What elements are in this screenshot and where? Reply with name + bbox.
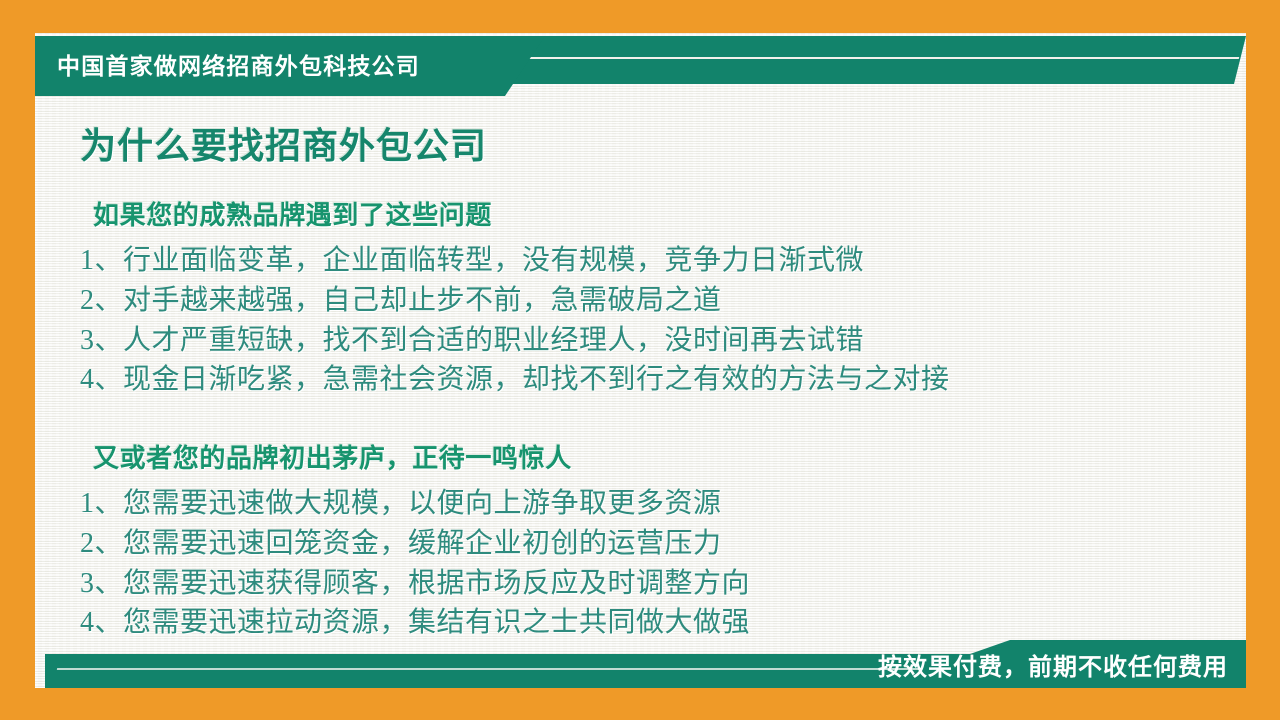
section-heading-1: 如果您的成熟品牌遇到了这些问题: [93, 195, 1246, 232]
header-badge: 中国首家做网络招商外包科技公司: [35, 36, 545, 96]
page-title: 为什么要找招商外包公司: [80, 117, 1246, 169]
footer-hairline-divider: [57, 668, 922, 670]
header-badge-label: 中国首家做网络招商外包科技公司: [57, 47, 420, 81]
list-item: 4、现金日渐吃紧，急需社会资源，却找不到行之有效的方法与之对接: [80, 360, 1246, 400]
content-area: 为什么要找招商外包公司 如果您的成熟品牌遇到了这些问题 1、行业面临变革，企业面…: [35, 95, 1246, 625]
section-list-2: 1、您需要迅速做大规模，以便向上游争取更多资源 2、您需要迅速回笼资金，缓解企业…: [80, 484, 1246, 643]
list-item: 3、您需要迅速获得顾客，根据市场反应及时调整方向: [80, 564, 1246, 604]
header-ribbon: 中国首家做网络招商外包科技公司: [35, 36, 1246, 84]
list-item: 3、人才严重短缺，找不到合适的职业经理人，没时间再去试错: [80, 321, 1246, 361]
section-list-1: 1、行业面临变革，企业面临转型，没有规模，竞争力日渐式微 2、对手越来越强，自己…: [80, 241, 1246, 400]
list-item: 1、您需要迅速做大规模，以便向上游争取更多资源: [80, 484, 1246, 524]
list-item: 2、对手越来越强，自己却止步不前，急需破局之道: [80, 281, 1246, 321]
header-hairline-divider: [455, 57, 1239, 59]
footer-tagline: 按效果付费，前期不收任何费用: [878, 647, 1228, 682]
slide-root: 中国首家做网络招商外包科技公司 为什么要找招商外包公司 如果您的成熟品牌遇到了这…: [0, 0, 1280, 720]
footer-ribbon: 按效果付费，前期不收任何费用: [35, 640, 1246, 688]
list-item: 1、行业面临变革，企业面临转型，没有规模，竞争力日渐式微: [80, 241, 1246, 281]
section-heading-2: 又或者您的品牌初出茅庐，正待一鸣惊人: [93, 438, 1246, 475]
list-item: 4、您需要迅速拉动资源，集结有识之士共同做大做强: [80, 603, 1246, 643]
list-item: 2、您需要迅速回笼资金，缓解企业初创的运营压力: [80, 524, 1246, 564]
